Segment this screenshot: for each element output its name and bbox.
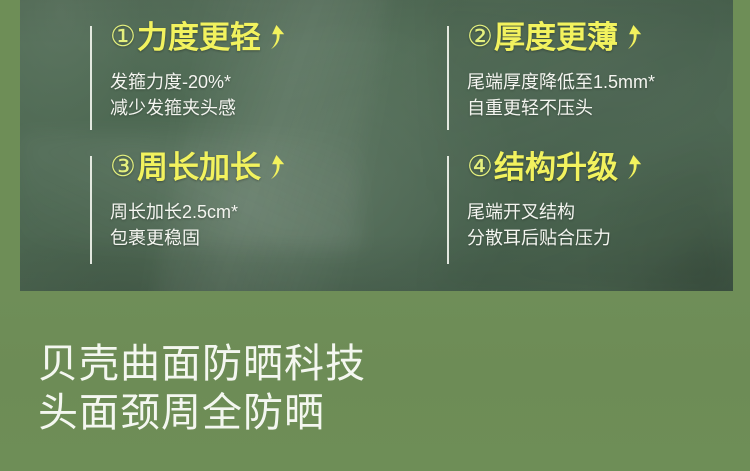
- feature-grid: ① 力度更轻 发箍力度-20%* 减少发箍夹头感 ② 厚度更薄: [20, 0, 733, 291]
- feature-line-1b: 减少发箍夹头感: [110, 95, 390, 121]
- feature-title-label: 周长加长: [137, 152, 261, 183]
- arrow-up-curved-icon: [621, 153, 643, 181]
- feature-line-3b: 包裹更稳固: [110, 225, 390, 251]
- feature-number-badge: ④: [467, 153, 493, 182]
- feature-line-2a: 尾端厚度降低至1.5mm*: [467, 69, 747, 95]
- feature-title-label: 力度更轻: [137, 22, 261, 53]
- feature-divider-rule: [447, 156, 449, 264]
- arrow-up-curved-icon: [264, 153, 286, 181]
- feature-line-3a: 周长加长2.5cm*: [110, 199, 390, 225]
- bottom-headline: 贝壳曲面防晒科技 头面颈周全防晒: [38, 340, 678, 438]
- feature-divider-rule: [90, 156, 92, 264]
- feature-item-3: ③ 周长加长 周长加长2.5cm* 包裹更稳固: [90, 152, 390, 251]
- feature-line-4a: 尾端开叉结构: [467, 199, 747, 225]
- headline-line-2: 头面颈周全防晒: [38, 389, 678, 438]
- feature-item-2: ② 厚度更薄 尾端厚度降低至1.5mm* 自重更轻不压头: [447, 22, 747, 121]
- feature-title-4: ④ 结构升级: [467, 152, 747, 183]
- feature-item-4: ④ 结构升级 尾端开叉结构 分散耳后贴合压力: [447, 152, 747, 251]
- product-feature-page: ① 力度更轻 发箍力度-20%* 减少发箍夹头感 ② 厚度更薄: [0, 0, 750, 471]
- feature-line-1a: 发箍力度-20%*: [110, 69, 390, 95]
- arrow-up-curved-icon: [264, 23, 286, 51]
- feature-title-1: ① 力度更轻: [110, 22, 390, 53]
- feature-title-2: ② 厚度更薄: [467, 22, 747, 53]
- feature-title-label: 厚度更薄: [494, 22, 618, 53]
- feature-item-1: ① 力度更轻 发箍力度-20%* 减少发箍夹头感: [90, 22, 390, 121]
- feature-divider-rule: [447, 26, 449, 130]
- feature-title-label: 结构升级: [494, 152, 618, 183]
- feature-title-3: ③ 周长加长: [110, 152, 390, 183]
- feature-divider-rule: [90, 26, 92, 130]
- feature-line-2b: 自重更轻不压头: [467, 95, 747, 121]
- feature-number-badge: ②: [467, 23, 493, 52]
- arrow-up-curved-icon: [621, 23, 643, 51]
- feature-line-4b: 分散耳后贴合压力: [467, 225, 747, 251]
- feature-number-badge: ③: [110, 153, 136, 182]
- feature-number-badge: ①: [110, 23, 136, 52]
- headline-line-1: 贝壳曲面防晒科技: [38, 340, 678, 389]
